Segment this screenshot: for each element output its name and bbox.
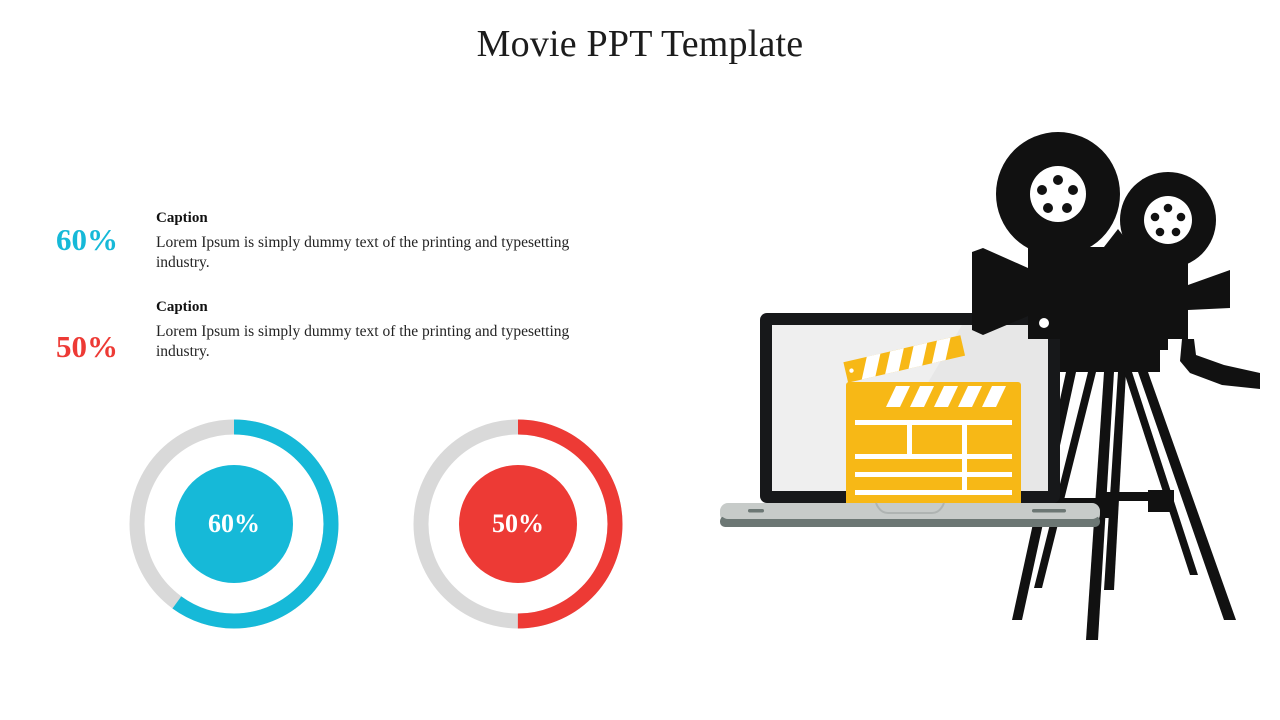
stat-row: 50% Caption Lorem Ipsum is simply dummy … — [56, 299, 636, 362]
camera-reel-left-hub — [1030, 166, 1086, 222]
donut-50-inner-disc — [459, 465, 577, 583]
camera-body-dot — [1039, 318, 1049, 328]
laptop-base-mark-left — [748, 509, 764, 513]
donut-60-inner-disc — [175, 465, 293, 583]
donut-50-svg — [413, 419, 623, 629]
donut-chart-50: 50% — [413, 419, 623, 629]
stat-text-block: Caption Lorem Ipsum is simply dummy text… — [156, 299, 636, 362]
laptop-base-mark-right — [1032, 509, 1066, 513]
illustration-svg — [700, 120, 1260, 660]
stat-text-block: Caption Lorem Ipsum is simply dummy text… — [156, 210, 636, 273]
stat-caption-1: Caption — [156, 210, 636, 227]
stats-block: 60% Caption Lorem Ipsum is simply dummy … — [56, 210, 636, 363]
camera-reel-right-hub — [1144, 196, 1192, 244]
stat-body-2: Lorem Ipsum is simply dummy text of the … — [156, 322, 618, 363]
camera-viewfinder — [1188, 270, 1230, 310]
page-title: Movie PPT Template — [0, 22, 1280, 66]
stat-row: 60% Caption Lorem Ipsum is simply dummy … — [56, 210, 636, 273]
camera-crank-handle — [1180, 339, 1260, 389]
camera-lens-hood — [972, 248, 983, 335]
stat-caption-2: Caption — [156, 299, 636, 316]
stat-body-1: Lorem Ipsum is simply dummy text of the … — [156, 233, 618, 274]
laptop — [720, 313, 1100, 527]
donut-chart-60: 60% — [129, 419, 339, 629]
stat-percent-50: 50% — [56, 331, 156, 362]
movie-illustration — [700, 120, 1260, 660]
donut-60-svg — [129, 419, 339, 629]
stat-percent-60: 60% — [56, 224, 156, 255]
camera-body — [1028, 247, 1188, 339]
